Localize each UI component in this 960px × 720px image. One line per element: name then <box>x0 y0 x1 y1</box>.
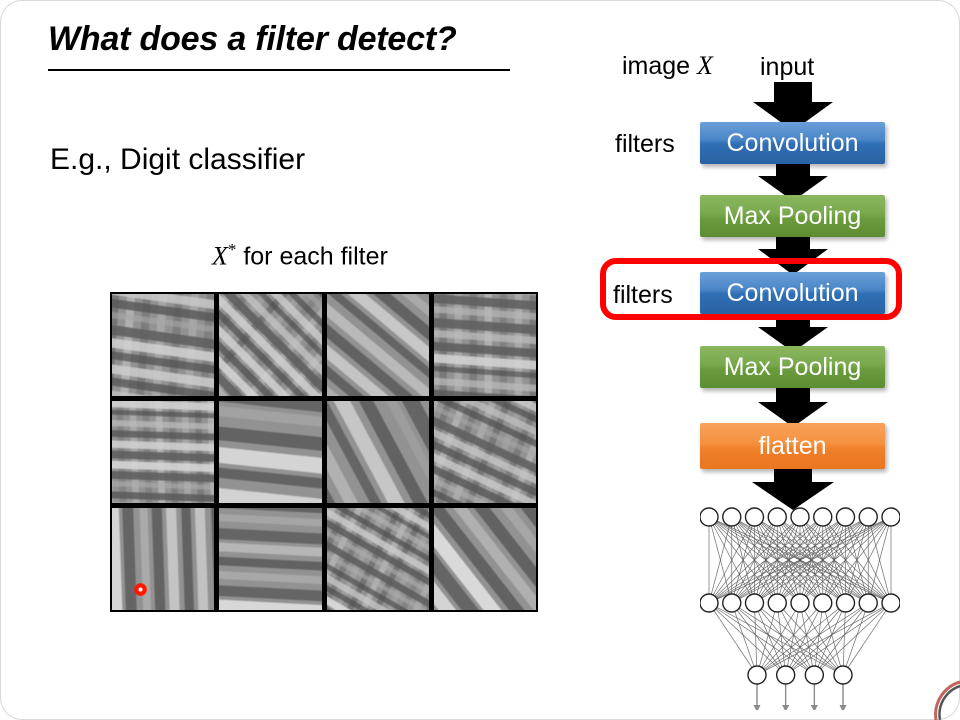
fully-connected-network <box>700 505 900 710</box>
filters-label-1: filters <box>615 130 675 159</box>
network-node <box>814 508 832 526</box>
network-node <box>746 594 764 612</box>
network-output-arrowhead <box>811 705 818 710</box>
stage-max-pooling-1[interactable]: Max Pooling <box>700 195 885 237</box>
stage-max-pooling-2[interactable]: Max Pooling <box>700 346 885 388</box>
network-node <box>882 594 900 612</box>
network-edge <box>757 603 891 675</box>
input-label: input <box>760 53 814 82</box>
image-variable-x: X <box>697 51 713 80</box>
network-node <box>723 508 741 526</box>
cnn-pipeline: image X input filters filters Convolutio… <box>0 0 960 720</box>
network-node <box>768 594 786 612</box>
network-node <box>723 594 741 612</box>
network-node <box>805 666 823 684</box>
network-node <box>777 666 795 684</box>
network-node <box>791 594 809 612</box>
network-node <box>700 594 718 612</box>
network-node <box>748 666 766 684</box>
network-node <box>882 508 900 526</box>
network-edge <box>777 603 814 675</box>
arrow-pool2-to-flatten <box>758 388 828 427</box>
network-node <box>837 594 855 612</box>
image-label-text: image <box>622 52 697 80</box>
network-node <box>859 594 877 612</box>
network-output-arrowhead <box>754 705 761 710</box>
image-x-label: image X <box>622 51 713 81</box>
network-edge <box>814 603 868 675</box>
network-edge <box>755 603 758 675</box>
red-highlight-box <box>600 258 902 320</box>
network-node <box>837 508 855 526</box>
stage-flatten[interactable]: flatten <box>700 423 885 469</box>
network-node <box>746 508 764 526</box>
network-edge <box>843 603 846 675</box>
network-edge <box>709 603 843 675</box>
network-node <box>834 666 852 684</box>
network-edge <box>843 603 891 675</box>
network-node <box>700 508 718 526</box>
network-node <box>814 594 832 612</box>
network-output-arrowhead <box>782 705 789 710</box>
network-edge <box>786 603 823 675</box>
network-node <box>859 508 877 526</box>
stage-convolution-1[interactable]: Convolution <box>700 122 885 164</box>
network-node <box>768 508 786 526</box>
arrow-flatten-to-network <box>752 467 834 510</box>
network-edge <box>709 603 757 675</box>
network-node <box>791 508 809 526</box>
network-output-arrowhead <box>840 705 847 710</box>
slide-canvas: What does a filter detect? E.g., Digit c… <box>0 0 960 720</box>
